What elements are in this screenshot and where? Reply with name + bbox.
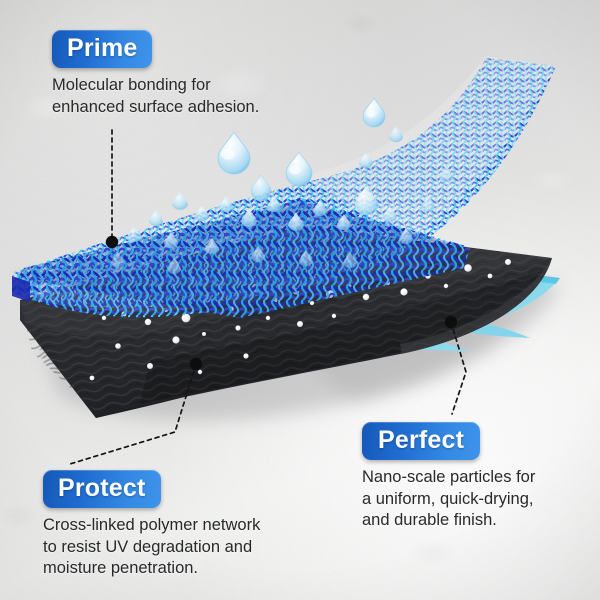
droplet	[363, 98, 385, 127]
droplet	[251, 175, 271, 201]
description-protect: Cross-linked polymer network to resist U…	[43, 515, 260, 579]
droplet	[219, 196, 233, 212]
description-perfect: Nano-scale particles for a uniform, quic…	[362, 467, 535, 531]
droplet	[389, 126, 403, 142]
droplet	[172, 192, 188, 210]
badge-protect[interactable]: Protect	[43, 470, 161, 508]
droplet	[149, 210, 163, 226]
leader-dot-perfect	[445, 316, 457, 328]
callout-perfect: Perfect Nano-scale particles for a unifo…	[362, 422, 535, 532]
description-prime: Molecular bonding for enhanced surface a…	[52, 75, 259, 118]
droplet	[127, 226, 141, 242]
leader-dot-prime	[106, 236, 118, 248]
droplet	[195, 205, 209, 221]
callout-prime: Prime Molecular bonding for enhanced sur…	[52, 30, 259, 118]
leader-dot-protect	[190, 358, 202, 370]
droplet	[218, 132, 250, 174]
infographic-canvas: Prime Molecular bonding for enhanced sur…	[0, 0, 600, 600]
droplet	[286, 152, 312, 186]
callout-protect: Protect Cross-linked polymer network to …	[43, 470, 260, 580]
badge-prime[interactable]: Prime	[52, 30, 152, 68]
badge-perfect[interactable]: Perfect	[362, 422, 480, 460]
